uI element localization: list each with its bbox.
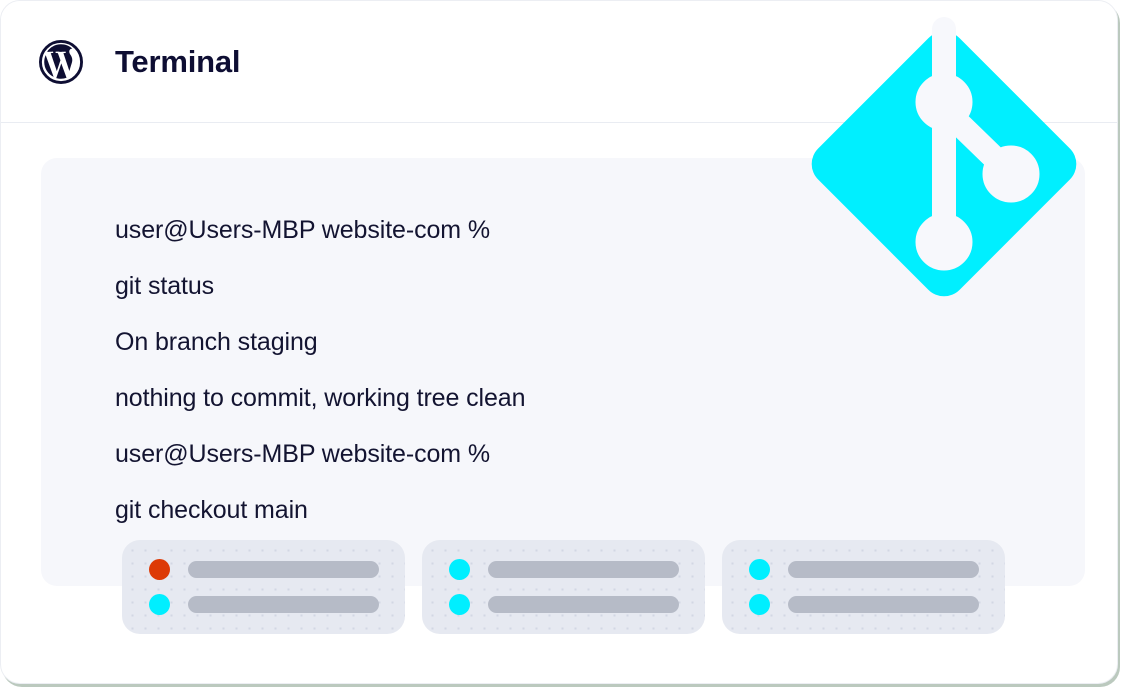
placeholder-row (149, 594, 379, 616)
placeholder-row (449, 559, 679, 581)
list-item[interactable] (722, 540, 1005, 634)
list-item[interactable] (122, 540, 405, 634)
window-header: Terminal (1, 1, 1117, 123)
placeholder-bar (788, 561, 979, 578)
status-dot-icon (749, 594, 770, 615)
placeholder-card-row (122, 540, 1006, 634)
terminal-line: On branch staging (115, 314, 525, 370)
placeholder-bar (488, 596, 679, 613)
terminal-line: user@Users-MBP website-com % (115, 202, 525, 258)
terminal-line: git checkout main (115, 482, 525, 538)
wordpress-icon (39, 40, 83, 84)
placeholder-bar (788, 596, 979, 613)
page-title: Terminal (115, 46, 240, 77)
screen-root: Terminal user@Users-MBP website-com % gi… (0, 0, 1126, 692)
status-dot-icon (149, 559, 170, 580)
status-dot-icon (749, 559, 770, 580)
terminal-line-list: user@Users-MBP website-com % git status … (115, 202, 525, 538)
list-item[interactable] (422, 540, 705, 634)
terminal-line: nothing to commit, working tree clean (115, 370, 525, 426)
placeholder-row (449, 594, 679, 616)
placeholder-bar (188, 561, 379, 578)
terminal-line: user@Users-MBP website-com % (115, 426, 525, 482)
placeholder-bar (488, 561, 679, 578)
terminal-line: git status (115, 258, 525, 314)
terminal-output-panel[interactable]: user@Users-MBP website-com % git status … (41, 158, 1085, 586)
placeholder-bar (188, 596, 379, 613)
placeholder-row (749, 594, 979, 616)
placeholder-row (749, 559, 979, 581)
placeholder-row (149, 559, 379, 581)
status-dot-icon (449, 559, 470, 580)
status-dot-icon (449, 594, 470, 615)
terminal-window-card: Terminal user@Users-MBP website-com % gi… (0, 0, 1118, 684)
status-dot-icon (149, 594, 170, 615)
